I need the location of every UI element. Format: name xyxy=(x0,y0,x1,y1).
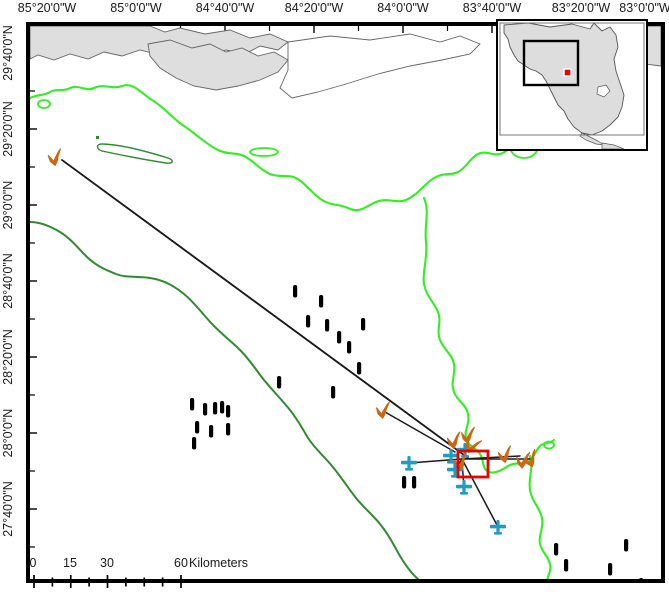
blue-airplane-marker-4[interactable] xyxy=(456,480,472,495)
black-markers xyxy=(190,285,643,579)
black-tick-marker-23[interactable] xyxy=(608,563,612,576)
black-tick-marker-3[interactable] xyxy=(325,319,329,332)
map-figure: 85°20'0"W85°0'0"W84°40'0"W84°20'0"W84°0'… xyxy=(0,0,669,606)
bright-green-contour-southeast xyxy=(530,456,551,579)
blue-airplane-marker-5[interactable] xyxy=(490,520,506,535)
black-tick-marker-11[interactable] xyxy=(203,403,207,416)
longitude-label-7: 83°0'0"W xyxy=(619,1,669,15)
black-tick-marker-22[interactable] xyxy=(564,559,568,572)
black-tick-marker-0[interactable] xyxy=(293,285,297,298)
black-tick-marker-24[interactable] xyxy=(624,539,628,552)
bright-green-contour xyxy=(30,85,570,210)
black-tick-marker-7[interactable] xyxy=(357,362,361,375)
black-tick-marker-14[interactable] xyxy=(226,405,230,418)
orange-bird-marker-1[interactable] xyxy=(376,402,393,419)
black-tick-marker-17[interactable] xyxy=(226,423,230,436)
longitude-label-2: 84°40'0"W xyxy=(196,1,254,15)
inset-canvas xyxy=(498,21,646,149)
longitude-label-6: 83°20'0"W xyxy=(552,1,610,15)
longitude-label-5: 83°40'0"W xyxy=(463,1,521,15)
green-contour-ring-0 xyxy=(38,100,50,108)
orange-bird-marker-6[interactable] xyxy=(498,446,515,463)
latitude-label-2: 29°0'0"N xyxy=(1,181,15,230)
latitude-label-3: 28°40'0"N xyxy=(1,253,15,309)
florida-locator-inset[interactable] xyxy=(496,19,648,151)
longitude-label-0: 85°20'0"W xyxy=(18,1,76,15)
scale-bar-label-0: 0 xyxy=(30,556,37,570)
black-tick-marker-6[interactable] xyxy=(347,341,351,354)
black-tick-marker-26[interactable] xyxy=(639,578,643,579)
dark-green-island xyxy=(98,144,173,163)
orange-bird-marker-2[interactable] xyxy=(447,432,464,449)
dark-green-contour xyxy=(30,222,418,579)
longitude-label-4: 84°0'0"W xyxy=(377,1,428,15)
latitude-label-0: 29°40'0"N xyxy=(1,25,15,81)
latitude-label-5: 28°0'0"N xyxy=(1,409,15,458)
black-tick-marker-2[interactable] xyxy=(306,315,310,328)
blue-airplane-markers xyxy=(401,443,506,535)
scale-bar-label-3: 60 xyxy=(174,556,188,570)
black-tick-marker-9[interactable] xyxy=(331,386,335,399)
longitude-label-3: 84°20'0"W xyxy=(285,1,343,15)
black-tick-marker-12[interactable] xyxy=(213,402,217,415)
black-tick-marker-20[interactable] xyxy=(412,476,416,489)
black-tick-marker-8[interactable] xyxy=(277,376,281,389)
scale-bar: 0153060Kilometers xyxy=(33,556,193,592)
black-tick-marker-13[interactable] xyxy=(220,401,224,414)
black-tick-marker-18[interactable] xyxy=(192,437,196,450)
black-tick-marker-19[interactable] xyxy=(402,476,406,489)
scale-bar-units-label: Kilometers xyxy=(189,556,248,570)
black-tick-marker-10[interactable] xyxy=(190,398,194,411)
scale-bar-label-1: 15 xyxy=(63,556,77,570)
black-tick-marker-1[interactable] xyxy=(319,295,323,308)
black-tick-marker-16[interactable] xyxy=(209,425,213,438)
bright-green-contour-east xyxy=(424,198,554,473)
orange-bird-marker-3[interactable] xyxy=(461,427,478,444)
black-tick-marker-5[interactable] xyxy=(361,318,365,331)
scale-bar-graphic xyxy=(33,574,193,588)
latitude-label-6: 27°40'0"N xyxy=(1,481,15,537)
inset-site-marker[interactable] xyxy=(564,69,571,76)
black-tick-marker-15[interactable] xyxy=(195,421,199,434)
black-tick-marker-21[interactable] xyxy=(554,543,558,556)
latitude-label-1: 29°20'0"N xyxy=(1,101,15,157)
track-lines[interactable] xyxy=(62,160,530,527)
orange-bird-marker-8[interactable] xyxy=(523,449,542,468)
latitude-label-4: 28°20'0"N xyxy=(1,329,15,385)
scale-bar-label-2: 30 xyxy=(100,556,114,570)
longitude-label-1: 85°0'0"W xyxy=(110,1,161,15)
scale-bar-labels: 0153060Kilometers xyxy=(33,556,193,572)
orange-bird-marker-0[interactable] xyxy=(48,149,65,166)
black-tick-marker-4[interactable] xyxy=(337,331,341,344)
green-contour-ring-1 xyxy=(250,148,278,156)
dark-green-dot xyxy=(96,136,99,139)
blue-airplane-marker-0[interactable] xyxy=(401,456,417,471)
